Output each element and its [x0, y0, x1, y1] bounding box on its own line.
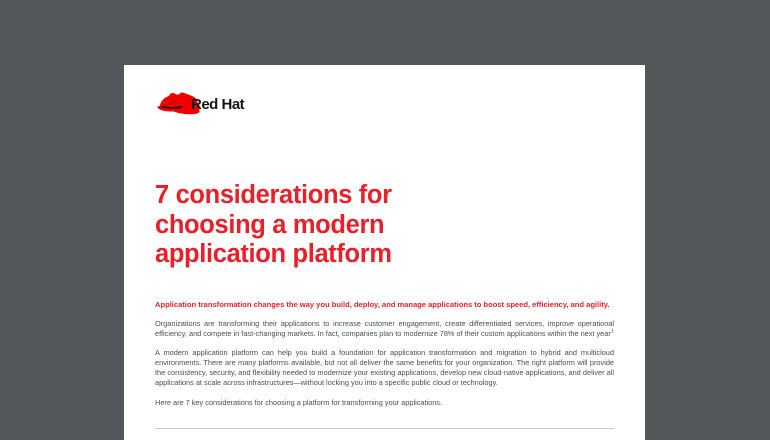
lead-paragraph: Application transformation changes the w…	[155, 299, 614, 310]
paragraph-1-text: Organizations are transforming their app…	[155, 319, 614, 338]
red-hat-logo-svg: Red Hat	[155, 86, 270, 122]
paragraph-3: Here are 7 key considerations for choosi…	[155, 398, 614, 408]
page-title: 7 considerations for choosing a modern a…	[155, 181, 575, 270]
paragraph-1: Organizations are transforming their app…	[155, 319, 614, 339]
paragraph-2: A modern application platform can help y…	[155, 348, 614, 388]
page-title-line-2: choosing a modern	[155, 211, 575, 241]
horizontal-rule	[155, 428, 614, 429]
body-copy: Application transformation changes the w…	[155, 299, 614, 408]
page-title-line-3: application platform	[155, 240, 575, 270]
svg-text:Red Hat: Red Hat	[191, 96, 245, 113]
document-viewer: Red Hat 7 considerations for choosing a …	[0, 0, 770, 440]
red-hat-logo: Red Hat	[155, 86, 270, 122]
page-title-line-1: 7 considerations for	[155, 181, 575, 211]
red-hat-wordmark: Red Hat	[191, 96, 245, 113]
document-page: Red Hat 7 considerations for choosing a …	[124, 65, 645, 440]
footnote-reference-1: 1	[611, 329, 614, 335]
